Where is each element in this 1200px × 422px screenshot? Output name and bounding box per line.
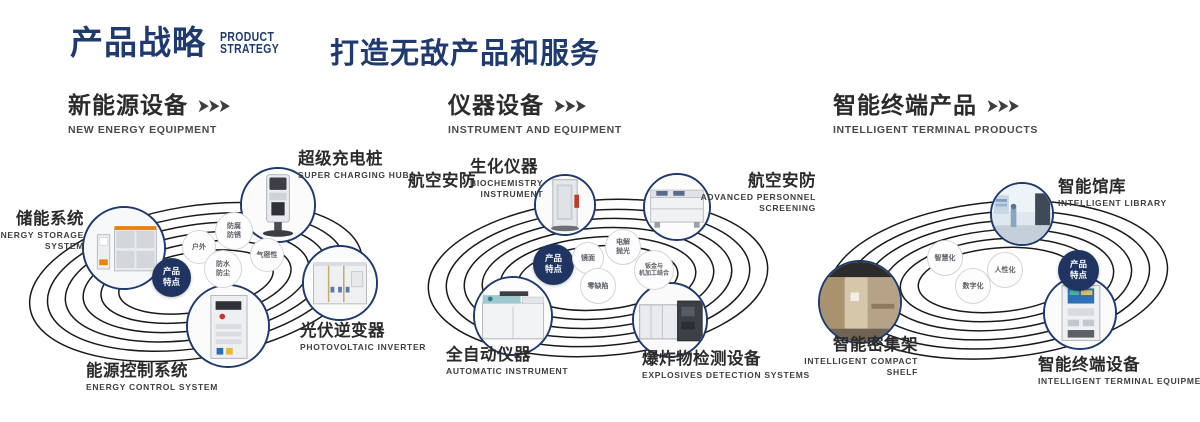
- feature-bubble-anticorrosion: 防腐防锈: [215, 212, 253, 250]
- page-title: 产品战略: [70, 26, 206, 59]
- label-en: ENERGY CONTROL SYSTEM: [86, 382, 218, 393]
- label-en: SUPER CHARGING HUB: [298, 170, 409, 181]
- core-feature-text: 产品特点: [163, 267, 180, 287]
- label-intelligent-library: 智能馆库 INTELLIGENT LIBRARY: [1058, 178, 1167, 209]
- automatic-analyzer-photo: [475, 278, 551, 354]
- section-heading-cn-wrap: 仪器设备 ➤➤➤: [448, 94, 622, 119]
- chevron-right-icon: ➤➤➤: [553, 96, 585, 117]
- feature-label: 电解抛光: [616, 238, 630, 256]
- node-intelligent-library[interactable]: [990, 182, 1054, 246]
- node-explosives-detection[interactable]: [632, 282, 708, 358]
- label-biochemistry-instrument: 生化仪器 BIOCHEMISTRY INSTRUMENT: [470, 158, 543, 199]
- node-pv-inverter[interactable]: [302, 245, 378, 321]
- control-cabinet-photo: [188, 286, 268, 366]
- label-advanced-personnel-screening: 航空安防 ADVANCED PERSONNEL SCREENING: [626, 172, 816, 213]
- page-title-english: PRODUCT STRATEGY: [220, 31, 279, 59]
- label-cn: 超级充电桩: [298, 150, 409, 168]
- feature-bubble-sheetmetal-machining: 钣金与机加工结合: [634, 250, 674, 290]
- label-cn: 智能终端设备: [1038, 356, 1200, 374]
- feature-bubble-waterproof: 防水防尘: [204, 250, 242, 288]
- label-aviation-security-secondary: 航空安防: [408, 172, 476, 190]
- label-intelligent-terminal-equipment: 智能终端设备 INTELLIGENT TERMINAL EQUIPMENT: [1038, 356, 1200, 387]
- label-en: AUTOMATIC INSTRUMENT: [446, 366, 568, 377]
- section-heading-cn-wrap: 智能终端产品 ➤➤➤: [833, 94, 1038, 119]
- feature-bubble-airtight: 气密性: [250, 238, 284, 272]
- core-feature-bubble: 产品特点: [1058, 250, 1099, 291]
- chevron-right-icon: ➤➤➤: [197, 96, 229, 117]
- feature-bubble-intelligent: 智慧化: [927, 240, 963, 276]
- label-cn: 全自动仪器: [446, 346, 568, 364]
- node-intelligent-compact-shelf[interactable]: [818, 260, 902, 344]
- core-feature-bubble: 产品特点: [152, 258, 191, 297]
- feature-label: 气密性: [257, 251, 278, 260]
- section-heading-new-energy: 新能源设备 ➤➤➤ NEW ENERGY EQUIPMENT: [68, 94, 229, 136]
- cluster-instrument: 产品特点 镜面 电解抛光 零缺陷 钣金与机加工结合 航空安防 生化仪器 BIOC…: [400, 150, 800, 400]
- feature-label: 智慧化: [935, 254, 956, 263]
- poster-canvas: 产品战略 PRODUCT STRATEGY 打造无敌产品和服务 新能源设备 ➤➤…: [0, 0, 1200, 422]
- section-title-cn: 智能终端产品: [833, 94, 977, 119]
- core-feature-text: 产品特点: [545, 254, 562, 274]
- feature-bubble-zero-defect: 零缺陷: [580, 268, 616, 304]
- pv-inverter-cabinet-photo: [304, 247, 376, 319]
- feature-label: 钣金与机加工结合: [639, 263, 669, 278]
- label-en: INTELLIGENT LIBRARY: [1058, 198, 1167, 209]
- feature-label: 防水防尘: [216, 260, 230, 278]
- page-subtitle: 打造无敌产品和服务: [330, 30, 600, 72]
- label-cn: 智能馆库: [1058, 178, 1167, 196]
- label-en: ENERGY STORAGE SYSTEM: [0, 230, 84, 251]
- label-cn: 航空安防: [408, 172, 476, 190]
- feature-label: 镜面: [581, 254, 595, 263]
- label-intelligent-compact-shelf: 智能密集架 INTELLIGENT COMPACT SHELF: [778, 336, 918, 377]
- label-energy-control-system: 能源控制系统 ENERGY CONTROL SYSTEM: [86, 362, 218, 393]
- node-biochemistry-instrument[interactable]: [534, 174, 596, 236]
- library-interior-photo: [992, 184, 1052, 244]
- compact-shelving-photo: [820, 262, 900, 342]
- feature-label: 人性化: [995, 266, 1016, 275]
- feature-bubble-digital: 数字化: [955, 268, 991, 304]
- core-feature-bubble: 产品特点: [533, 244, 574, 285]
- poster-header: 产品战略 PRODUCT STRATEGY: [70, 26, 294, 59]
- label-cn: 生化仪器: [470, 158, 543, 176]
- label-super-charging-hub: 超级充电桩 SUPER CHARGING HUB: [298, 150, 409, 181]
- label-cn: 智能密集架: [778, 336, 918, 354]
- label-cn: 能源控制系统: [86, 362, 218, 380]
- label-en: BIOCHEMISTRY INSTRUMENT: [470, 178, 543, 199]
- label-cn: 航空安防: [626, 172, 816, 190]
- feature-label: 防腐防锈: [227, 222, 241, 240]
- cluster-intelligent-terminal: 产品特点 智慧化 数字化 人性化 智能馆库 INTELLIGENT LIBRAR…: [800, 150, 1200, 400]
- section-title-cn: 仪器设备: [448, 94, 544, 119]
- feature-label: 户外: [192, 243, 206, 252]
- section-title-en: NEW ENERGY EQUIPMENT: [68, 124, 229, 136]
- biochemistry-scanner-photo: [536, 176, 594, 234]
- node-automatic-instrument[interactable]: [473, 276, 553, 356]
- node-energy-control-system[interactable]: [186, 284, 270, 368]
- label-cn: 储能系统: [0, 210, 84, 228]
- explosives-detector-photo: [634, 284, 706, 356]
- label-en: INTELLIGENT TERMINAL EQUIPMENT: [1038, 376, 1200, 387]
- section-heading-cn-wrap: 新能源设备 ➤➤➤: [68, 94, 229, 119]
- section-heading-instrument: 仪器设备 ➤➤➤ INSTRUMENT AND EQUIPMENT: [448, 94, 622, 136]
- label-en: ADVANCED PERSONNEL SCREENING: [626, 192, 816, 213]
- feature-label: 零缺陷: [588, 282, 609, 291]
- chevron-right-icon: ➤➤➤: [986, 96, 1018, 117]
- feature-label: 数字化: [963, 282, 984, 291]
- label-automatic-instrument: 全自动仪器 AUTOMATIC INSTRUMENT: [446, 346, 568, 377]
- section-heading-intelligent-terminal: 智能终端产品 ➤➤➤ INTELLIGENT TERMINAL PRODUCTS: [833, 94, 1038, 136]
- core-feature-text: 产品特点: [1070, 260, 1087, 280]
- section-title-cn: 新能源设备: [68, 94, 188, 119]
- section-title-en: INSTRUMENT AND EQUIPMENT: [448, 124, 622, 136]
- section-title-en: INTELLIGENT TERMINAL PRODUCTS: [833, 124, 1038, 136]
- page-title-english-line2: STRATEGY: [220, 43, 279, 55]
- label-energy-storage: 储能系统 ENERGY STORAGE SYSTEM: [0, 210, 84, 251]
- feature-bubble-humanized: 人性化: [987, 252, 1023, 288]
- label-en: INTELLIGENT COMPACT SHELF: [778, 356, 918, 377]
- cluster-new-energy: 产品特点 户外 防腐防锈 防水防尘 气密性 储能系统 ENERGY STORAG…: [0, 150, 400, 400]
